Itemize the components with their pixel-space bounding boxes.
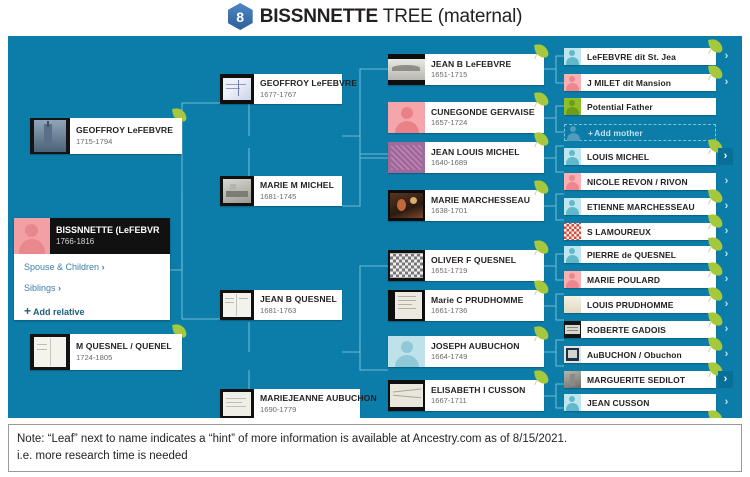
focus-person-name: BISSNNETTE (LeFEBVR 1766-1816 — [50, 225, 160, 247]
node-jean-b-lefebvre[interactable]: JEAN B LeFEBVRE 1651-1715 — [388, 54, 544, 85]
focus-person-name-text: BISSNNETTE (LeFEBVR — [56, 225, 160, 235]
node-dates: 1657-1724 — [431, 118, 544, 127]
chevron-right-icon: › — [725, 299, 729, 310]
dark-document-thumbnail — [564, 321, 581, 338]
chevron-right-icon: › — [725, 176, 729, 187]
focus-person-links: Spouse & Children › Siblings › +Add rela… — [14, 254, 170, 318]
row-potential-father[interactable]: Potential Father — [564, 98, 716, 115]
row-label: +Add mother — [582, 128, 643, 138]
row-aubuchon-obuchon[interactable]: AuBUCHON / Obuchon — [564, 346, 716, 363]
teal-avatar-icon — [564, 198, 581, 215]
node-info: GEOFFROY LeFEBVRE 1715-1794 — [70, 118, 182, 154]
chevron-right-icon: › — [725, 249, 729, 260]
row-etienne-marchesseau[interactable]: ETIENNE MARCHESSEAU — [564, 198, 716, 215]
expand-chevron-button[interactable]: › — [718, 371, 733, 388]
node-dates: 1661-1736 — [431, 306, 544, 315]
expand-chevron-button[interactable]: › — [720, 346, 733, 363]
expand-chevron-button[interactable]: › — [720, 394, 733, 411]
chevron-right-icon: › — [102, 262, 105, 272]
node-geoffroy-lefebvre-1677[interactable]: GEOFFROY LeFEBVRE 1677-1767 — [220, 74, 342, 104]
node-dates: 1681-1763 — [260, 306, 342, 315]
chevron-right-icon: › — [724, 151, 728, 162]
node-dates: 1664-1749 — [431, 352, 544, 361]
chevron-right-icon: › — [725, 201, 729, 212]
row-louis-prudhomme[interactable]: LOUIS PRUDHOMME — [564, 296, 716, 313]
row-label: LeFEBVRE dit St. Jea — [581, 52, 676, 62]
node-marie-c-prudhomme[interactable]: Marie C PRUDHOMME 1661-1736 — [388, 290, 544, 321]
thumbnail-document-sketch — [220, 74, 254, 104]
node-name: Marie C PRUDHOMME — [431, 296, 544, 306]
row-marguerite-sedilot[interactable]: MARGUERITE SEDILOT — [564, 371, 716, 388]
node-joseph-aubuchon[interactable]: JOSEPH AUBUCHON 1664-1749 — [388, 336, 544, 367]
row-label: PIERRE de QUESNEL — [581, 250, 676, 260]
siblings-link[interactable]: Siblings › — [24, 283, 170, 293]
row-label: LOUIS PRUDHOMME — [581, 300, 674, 310]
expand-chevron-button[interactable]: › — [720, 223, 733, 240]
focus-person-card[interactable]: BISSNNETTE (LeFEBVR 1766-1816 Spouse & C… — [14, 218, 170, 320]
footnote-line-1: Note: “Leaf” next to name indicates a “h… — [17, 431, 733, 448]
node-dates: 1690-1779 — [260, 405, 377, 414]
thumbnail-engraving — [220, 176, 254, 206]
thumbnail-bw-photo — [388, 250, 425, 281]
row-jean-cusson[interactable]: JEAN CUSSON — [564, 394, 716, 411]
thumbnail-ledger-page — [30, 334, 70, 370]
expand-chevron-button[interactable]: › — [720, 74, 733, 91]
node-name: MARIEJEANNE AUBUCHON — [260, 394, 377, 404]
title-rest-part: TREE (maternal) — [378, 6, 522, 27]
thumbnail-pink-avatar — [388, 102, 425, 133]
teal-avatar-icon — [564, 394, 581, 411]
node-info: MARIEJEANNE AUBUCHON 1690-1779 — [254, 389, 377, 418]
node-dates: 1640-1689 — [431, 158, 544, 167]
node-info: GEOFFROY LeFEBVRE 1677-1767 — [254, 74, 357, 104]
node-name: JEAN LOUIS MICHEL — [431, 148, 544, 158]
focus-person-header: BISSNNETTE (LeFEBVR 1766-1816 — [14, 218, 170, 254]
pink-avatar-icon — [564, 173, 581, 190]
expand-chevron-button[interactable]: › — [720, 321, 733, 338]
chevron-right-icon: › — [724, 374, 728, 385]
row-label: Potential Father — [581, 102, 653, 112]
node-name: MARIE MARCHESSEAU — [431, 196, 544, 206]
node-name: MARIE M MICHEL — [260, 181, 342, 191]
node-info: Marie C PRUDHOMME 1661-1736 — [425, 290, 544, 321]
row-label: ETIENNE MARCHESSEAU — [581, 202, 695, 212]
tree-chart-page: 8 BISSNNETTE TREE (maternal) — [0, 0, 750, 477]
teal-avatar-icon — [564, 48, 581, 65]
thumbnail-painting — [388, 190, 425, 221]
green-avatar-icon — [564, 98, 581, 115]
thumbnail-blue-avatar — [388, 336, 425, 367]
node-marie-marchesseau[interactable]: MARIE MARCHESSEAU 1638-1701 — [388, 190, 544, 221]
expand-chevron-button[interactable]: › — [720, 198, 733, 215]
expand-chevron-button[interactable]: › — [720, 296, 733, 313]
chevron-right-icon: › — [725, 51, 729, 62]
chevron-right-icon: › — [725, 324, 729, 335]
chevron-right-icon: › — [725, 226, 729, 237]
row-label: NICOLE REVON / RIVON — [581, 177, 688, 187]
row-label: ROBERTE GADOIS — [581, 325, 666, 335]
row-label: MARGUERITE SEDILOT — [581, 375, 685, 385]
spouse-children-link[interactable]: Spouse & Children › — [24, 262, 170, 272]
chevron-right-icon: › — [725, 274, 729, 285]
family-tree-panel: BISSNNETTE (LeFEBVR 1766-1816 Spouse & C… — [8, 36, 742, 418]
node-marie-m-michel[interactable]: MARIE M MICHEL 1681-1745 — [220, 176, 342, 206]
node-name: CUNEGONDE GERVAISE — [431, 108, 544, 118]
cream-document-thumbnail — [564, 296, 581, 313]
row-label: JEAN CUSSON — [581, 398, 650, 408]
node-elisabeth-i-cusson[interactable]: ELISABETH I CUSSON 1667-1711 — [388, 380, 544, 411]
node-dates: 1667-1711 — [431, 396, 544, 405]
row-label: LOUIS MICHEL — [581, 152, 649, 162]
footnote-box: Note: “Leaf” next to name indicates a “h… — [8, 424, 742, 472]
expand-chevron-button[interactable]: › — [720, 271, 733, 288]
node-info: OLIVER F QUESNEL 1651-1719 — [425, 250, 544, 281]
node-name: GEOFFROY LeFEBVRE — [260, 79, 357, 89]
node-name: JEAN B LeFEBVRE — [431, 60, 544, 70]
thumbnail-purple-texture — [388, 142, 425, 173]
thumbnail-landscape-print — [388, 54, 425, 85]
row-louis-michel[interactable]: LOUIS MICHEL — [564, 148, 716, 165]
red-pattern-thumbnail — [564, 223, 581, 240]
slide-number-badge: 8 — [228, 3, 253, 30]
chevron-right-icon: › — [58, 283, 61, 293]
node-jean-b-quesnel[interactable]: JEAN B QUESNEL 1681-1763 — [220, 290, 342, 320]
expand-chevron-button[interactable]: › — [720, 48, 733, 65]
node-info: MARIE MARCHESSEAU 1638-1701 — [425, 190, 544, 221]
thumbnail-manuscript — [220, 389, 254, 418]
node-geoffroy-lefebvre-1715[interactable]: GEOFFROY LeFEBVRE 1715-1794 — [30, 118, 182, 154]
node-info: JEAN B LeFEBVRE 1651-1715 — [425, 54, 544, 85]
node-jean-louis-michel[interactable]: JEAN LOUIS MICHEL 1640-1689 — [388, 142, 544, 173]
grey-photo-thumbnail — [564, 371, 581, 388]
node-name: JEAN B QUESNEL — [260, 295, 342, 305]
node-dates: 1651-1719 — [431, 266, 544, 275]
node-cunegonde-gervaise[interactable]: CUNEGONDE GERVAISE 1657-1724 — [388, 102, 544, 133]
thumbnail-church-photo — [30, 118, 70, 154]
row-nicole-revon-rivon[interactable]: NICOLE REVON / RIVON — [564, 173, 716, 190]
chevron-right-icon: › — [725, 397, 729, 408]
teal-avatar-icon — [564, 148, 581, 165]
pink-avatar-icon — [564, 271, 581, 288]
expand-chevron-button[interactable]: › — [718, 148, 733, 165]
footnote-line-2: i.e. more research time is needed — [17, 448, 733, 465]
node-info: M QUESNEL / QUENEL 1724-1805 — [70, 334, 182, 370]
node-m-quesnel-quenel[interactable]: M QUESNEL / QUENEL 1724-1805 — [30, 334, 182, 370]
expand-chevron-button[interactable]: › — [720, 246, 733, 263]
spouse-children-label: Spouse & Children — [24, 262, 99, 272]
thumbnail-map-scan — [388, 380, 425, 411]
node-name: GEOFFROY LeFEBVRE — [76, 126, 182, 136]
chevron-right-icon: › — [725, 349, 729, 360]
row-label: AuBUCHON / Obuchon — [581, 350, 682, 360]
node-dates: 1677-1767 — [260, 90, 357, 99]
node-name: ELISABETH I CUSSON — [431, 386, 544, 396]
row-add-mother[interactable]: +Add mother — [564, 124, 716, 141]
thumbnail-document-scan — [388, 290, 425, 321]
pink-avatar-icon — [564, 74, 581, 91]
expand-chevron-button[interactable]: › — [720, 173, 733, 190]
node-dates: 1681-1745 — [260, 192, 342, 201]
slide-number-text: 8 — [236, 10, 244, 24]
siblings-label: Siblings — [24, 283, 56, 293]
title-text: BISSNNETTE TREE (maternal) — [260, 6, 523, 28]
row-lefebvre-dit-st-jea[interactable]: LeFEBVRE dit St. Jea — [564, 48, 716, 65]
row-label: MARIE POULARD — [581, 275, 660, 285]
node-name: JOSEPH AUBUCHON — [431, 342, 544, 352]
node-info: ELISABETH I CUSSON 1667-1711 — [425, 380, 544, 411]
node-info: MARIE M MICHEL 1681-1745 — [254, 176, 342, 206]
framed-photo-thumbnail — [564, 346, 581, 363]
row-j-milet-dit-mansion[interactable]: J MILET dit Mansion — [564, 74, 716, 91]
row-marie-poulard[interactable]: MARIE POULARD — [564, 271, 716, 288]
thumbnail-record-page — [220, 290, 254, 320]
row-roberte-gadois[interactable]: ROBERTE GADOIS — [564, 321, 716, 338]
node-info: JEAN LOUIS MICHEL 1640-1689 — [425, 142, 544, 173]
chevron-right-icon: › — [725, 77, 729, 88]
node-mariejeanne-aubuchon[interactable]: MARIEJEANNE AUBUCHON 1690-1779 — [220, 389, 360, 418]
add-relative-label: Add relative — [33, 307, 85, 317]
page-title: 8 BISSNNETTE TREE (maternal) — [0, 0, 750, 33]
teal-avatar-icon — [564, 246, 581, 263]
add-person-icon — [565, 124, 582, 141]
avatar — [14, 218, 50, 254]
title-bold-part: BISSNNETTE — [260, 6, 378, 27]
row-s-lamoureux[interactable]: S LAMOUREUX — [564, 223, 716, 240]
row-label: S LAMOUREUX — [581, 227, 651, 237]
row-pierre-de-quesnel[interactable]: PIERRE de QUESNEL — [564, 246, 716, 263]
add-relative-button[interactable]: +Add relative — [24, 304, 170, 318]
node-name: M QUESNEL / QUENEL — [76, 342, 182, 352]
node-info: CUNEGONDE GERVAISE 1657-1724 — [425, 102, 544, 133]
plus-icon: + — [24, 304, 31, 318]
node-info: JEAN B QUESNEL 1681-1763 — [254, 290, 342, 320]
row-label: J MILET dit Mansion — [581, 78, 671, 88]
node-name: OLIVER F QUESNEL — [431, 256, 544, 266]
node-oliver-f-quesnel[interactable]: OLIVER F QUESNEL 1651-1719 — [388, 250, 544, 281]
node-dates: 1638-1701 — [431, 206, 544, 215]
focus-person-dates: 1766-1816 — [56, 237, 160, 247]
node-dates: 1715-1794 — [76, 137, 182, 146]
node-dates: 1724-1805 — [76, 353, 182, 362]
node-info: JOSEPH AUBUCHON 1664-1749 — [425, 336, 544, 367]
node-dates: 1651-1715 — [431, 70, 544, 79]
